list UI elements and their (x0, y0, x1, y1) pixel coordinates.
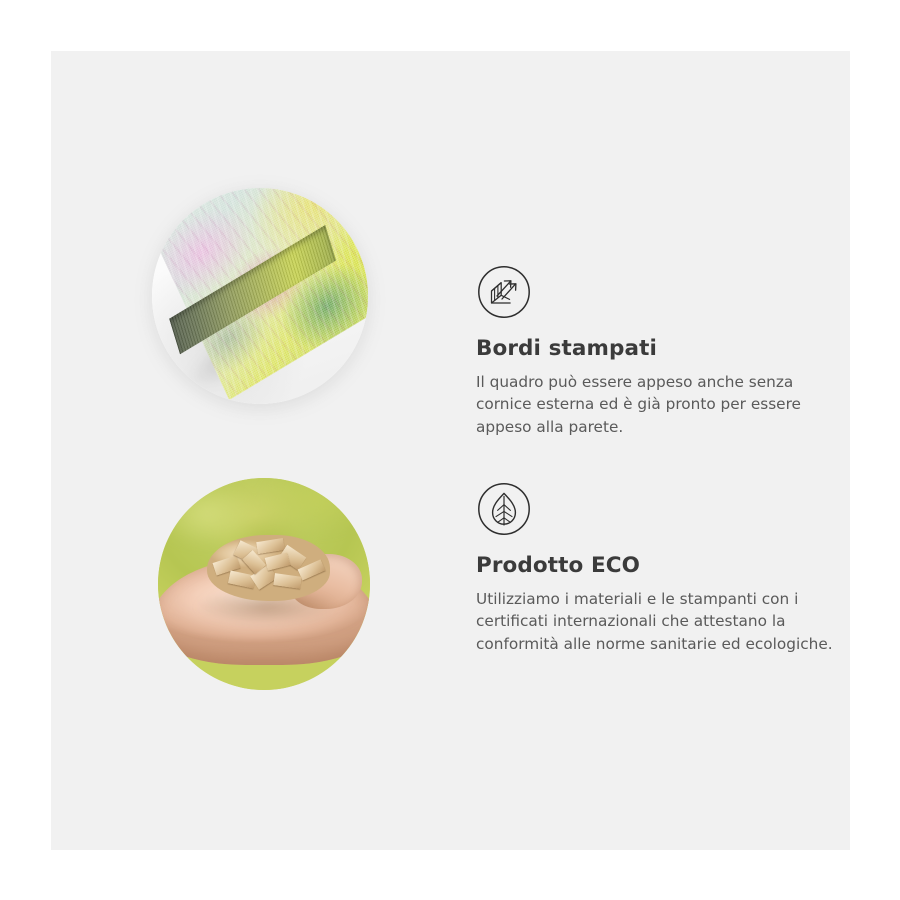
product-feature-page: Bordi stampati Il quadro può essere appe… (0, 0, 900, 900)
feature-text-eco-product: Prodotto ECO Utilizziamo i materiali e l… (476, 481, 856, 656)
canvas-photo-background (152, 188, 368, 404)
eco-chip (228, 571, 256, 589)
eco-photo-background (158, 478, 370, 690)
eco-chip (265, 552, 291, 570)
feature-title: Bordi stampati (476, 336, 856, 362)
canvas-edge-photo (152, 188, 368, 404)
feature-text-printed-edges: Bordi stampati Il quadro può essere appe… (476, 264, 856, 439)
content-panel: Bordi stampati Il quadro può essere appe… (51, 51, 850, 850)
eco-wood-chip-pile (207, 535, 330, 601)
feature-description: Utilizziamo i materiali e le stampanti c… (476, 588, 844, 656)
feature-description: Il quadro può essere appeso anche senza … (476, 371, 844, 439)
feature-title: Prodotto ECO (476, 553, 856, 579)
eco-wood-chips-photo (158, 478, 370, 690)
printed-edges-icon (476, 264, 532, 320)
leaf-icon (476, 481, 532, 537)
eco-chip (274, 573, 303, 589)
